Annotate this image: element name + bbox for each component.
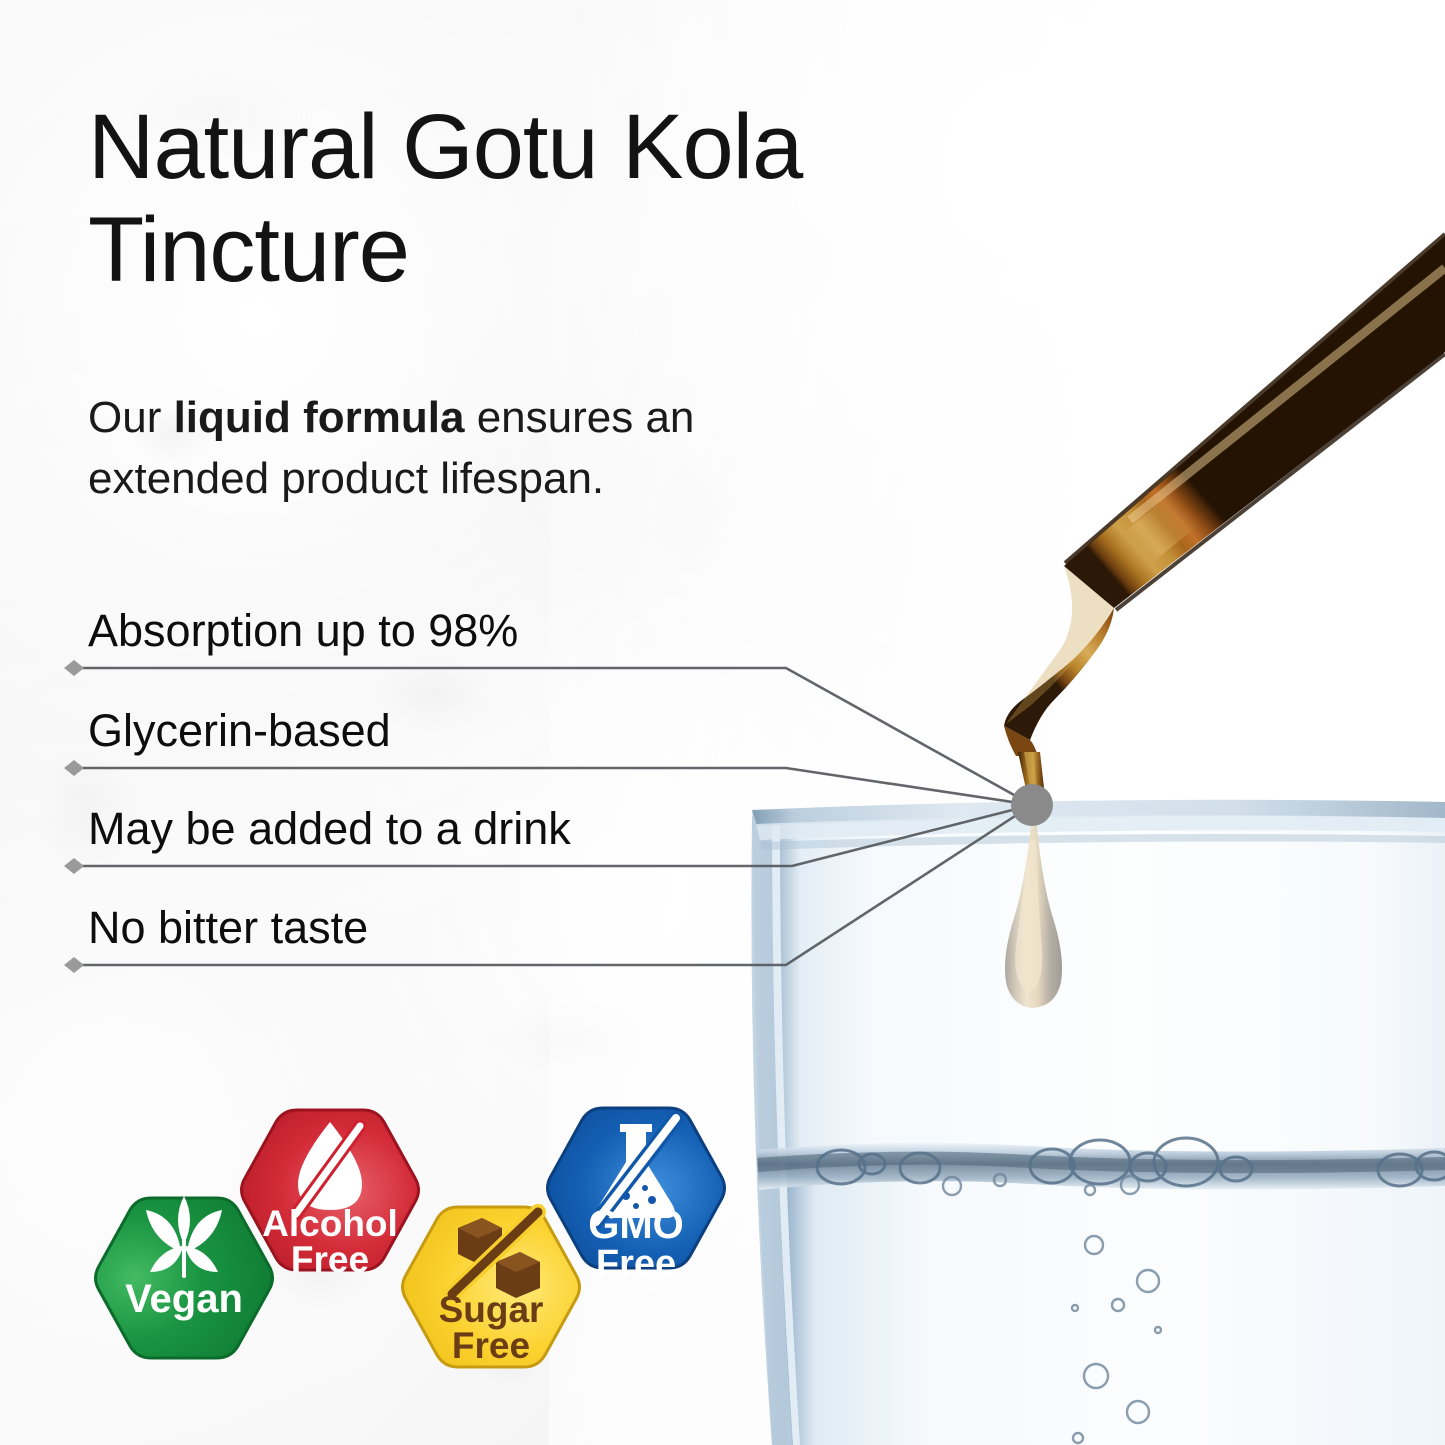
badge-gmo-line2: Free (596, 1243, 676, 1285)
badge-sugar-line2: Free (452, 1325, 530, 1366)
badge-gmo-free: GMO Free (548, 1108, 725, 1285)
badge-sugar-line1: Sugar (439, 1289, 544, 1330)
certification-badges: Vegan Alcohol Free Sugar (0, 0, 1445, 1445)
badge-alcohol-line2: Free (291, 1239, 369, 1280)
badge-vegan-label: Vegan (125, 1277, 243, 1321)
badge-vegan: Vegan (96, 1196, 273, 1358)
badge-alcohol-free: Alcohol Free (242, 1110, 419, 1280)
badge-alcohol-line1: Alcohol (262, 1203, 398, 1244)
badge-gmo-line1: GMO (588, 1203, 684, 1247)
badge-sugar-free: Sugar Free (403, 1207, 580, 1367)
infographic-canvas: Natural Gotu Kola Tincture Our liquid fo… (0, 0, 1445, 1445)
